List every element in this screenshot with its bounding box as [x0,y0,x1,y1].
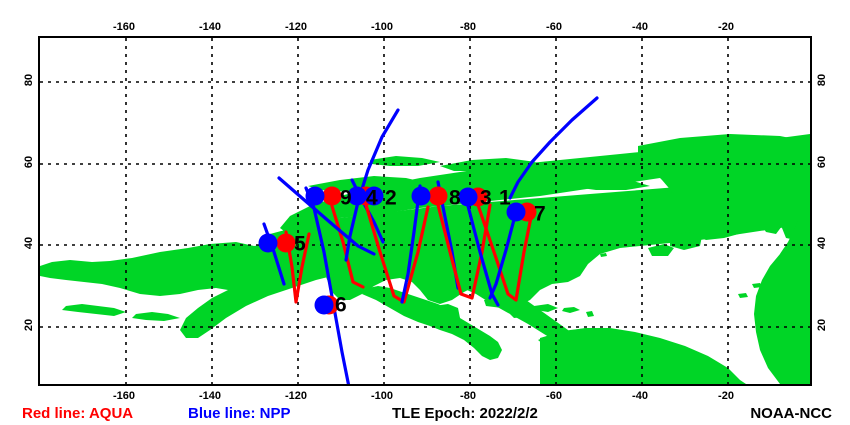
satellite-label-5: 5 [294,234,306,255]
x-tick-bottom--140: -140 [199,390,221,402]
satellite-label-4: 4 [366,188,378,209]
satellite-marker-3-npp[interactable] [459,188,478,207]
x-tick--60: -60 [546,21,562,33]
satellite-marker-8-npp[interactable] [412,187,431,206]
y-tick-right-20: 20 [816,319,828,331]
agency-label: NOAA-NCC [750,405,832,422]
satellite-marker-5-npp[interactable] [259,234,278,253]
satellite-label-6: 6 [335,295,347,316]
satellite-label-8: 8 [449,188,461,209]
y-tick-right-80: 80 [816,74,828,86]
satellite-label-3: 3 [480,188,492,209]
legend-npp: Blue line: NPP [188,405,291,422]
x-tick--160: -160 [113,21,135,33]
satellite-label-9: 9 [340,188,352,209]
satellite-marker-6-npp[interactable] [315,296,334,315]
tle-epoch: TLE Epoch: 2022/2/2 [392,405,538,422]
satellite-track-map: 123456789 -160 -140 -120 -100 -80 -60 -4… [0,0,850,425]
satellite-label-7: 7 [534,204,546,225]
satellite-marker-8-aqua[interactable] [429,187,448,206]
x-tick-bottom--80: -80 [460,390,476,402]
x-tick--20: -20 [718,21,734,33]
y-tick-left-60: 60 [23,156,35,168]
satellite-marker-5-aqua[interactable] [277,234,296,253]
x-tick--140: -140 [199,21,221,33]
satellite-marker-9-npp[interactable] [306,187,325,206]
map-plot-area[interactable]: 123456789 [38,36,812,386]
satellite-label-1: 1 [499,188,511,209]
x-tick--120: -120 [285,21,307,33]
x-tick-bottom--160: -160 [113,390,135,402]
y-tick-left-80: 80 [23,74,35,86]
x-tick-bottom--100: -100 [371,390,393,402]
y-tick-left-20: 20 [23,319,35,331]
y-tick-left-40: 40 [23,237,35,249]
x-tick-bottom--60: -60 [546,390,562,402]
x-tick--80: -80 [460,21,476,33]
satellite-marker-9-aqua[interactable] [323,187,342,206]
map-canvas [40,38,810,384]
x-tick-bottom--120: -120 [285,390,307,402]
x-tick-bottom--40: -40 [632,390,648,402]
y-tick-right-40: 40 [816,237,828,249]
x-tick--100: -100 [371,21,393,33]
satellite-label-2: 2 [385,188,397,209]
y-tick-right-60: 60 [816,156,828,168]
x-tick--40: -40 [632,21,648,33]
legend-aqua: Red line: AQUA [22,405,133,422]
x-tick-bottom--20: -20 [718,390,734,402]
